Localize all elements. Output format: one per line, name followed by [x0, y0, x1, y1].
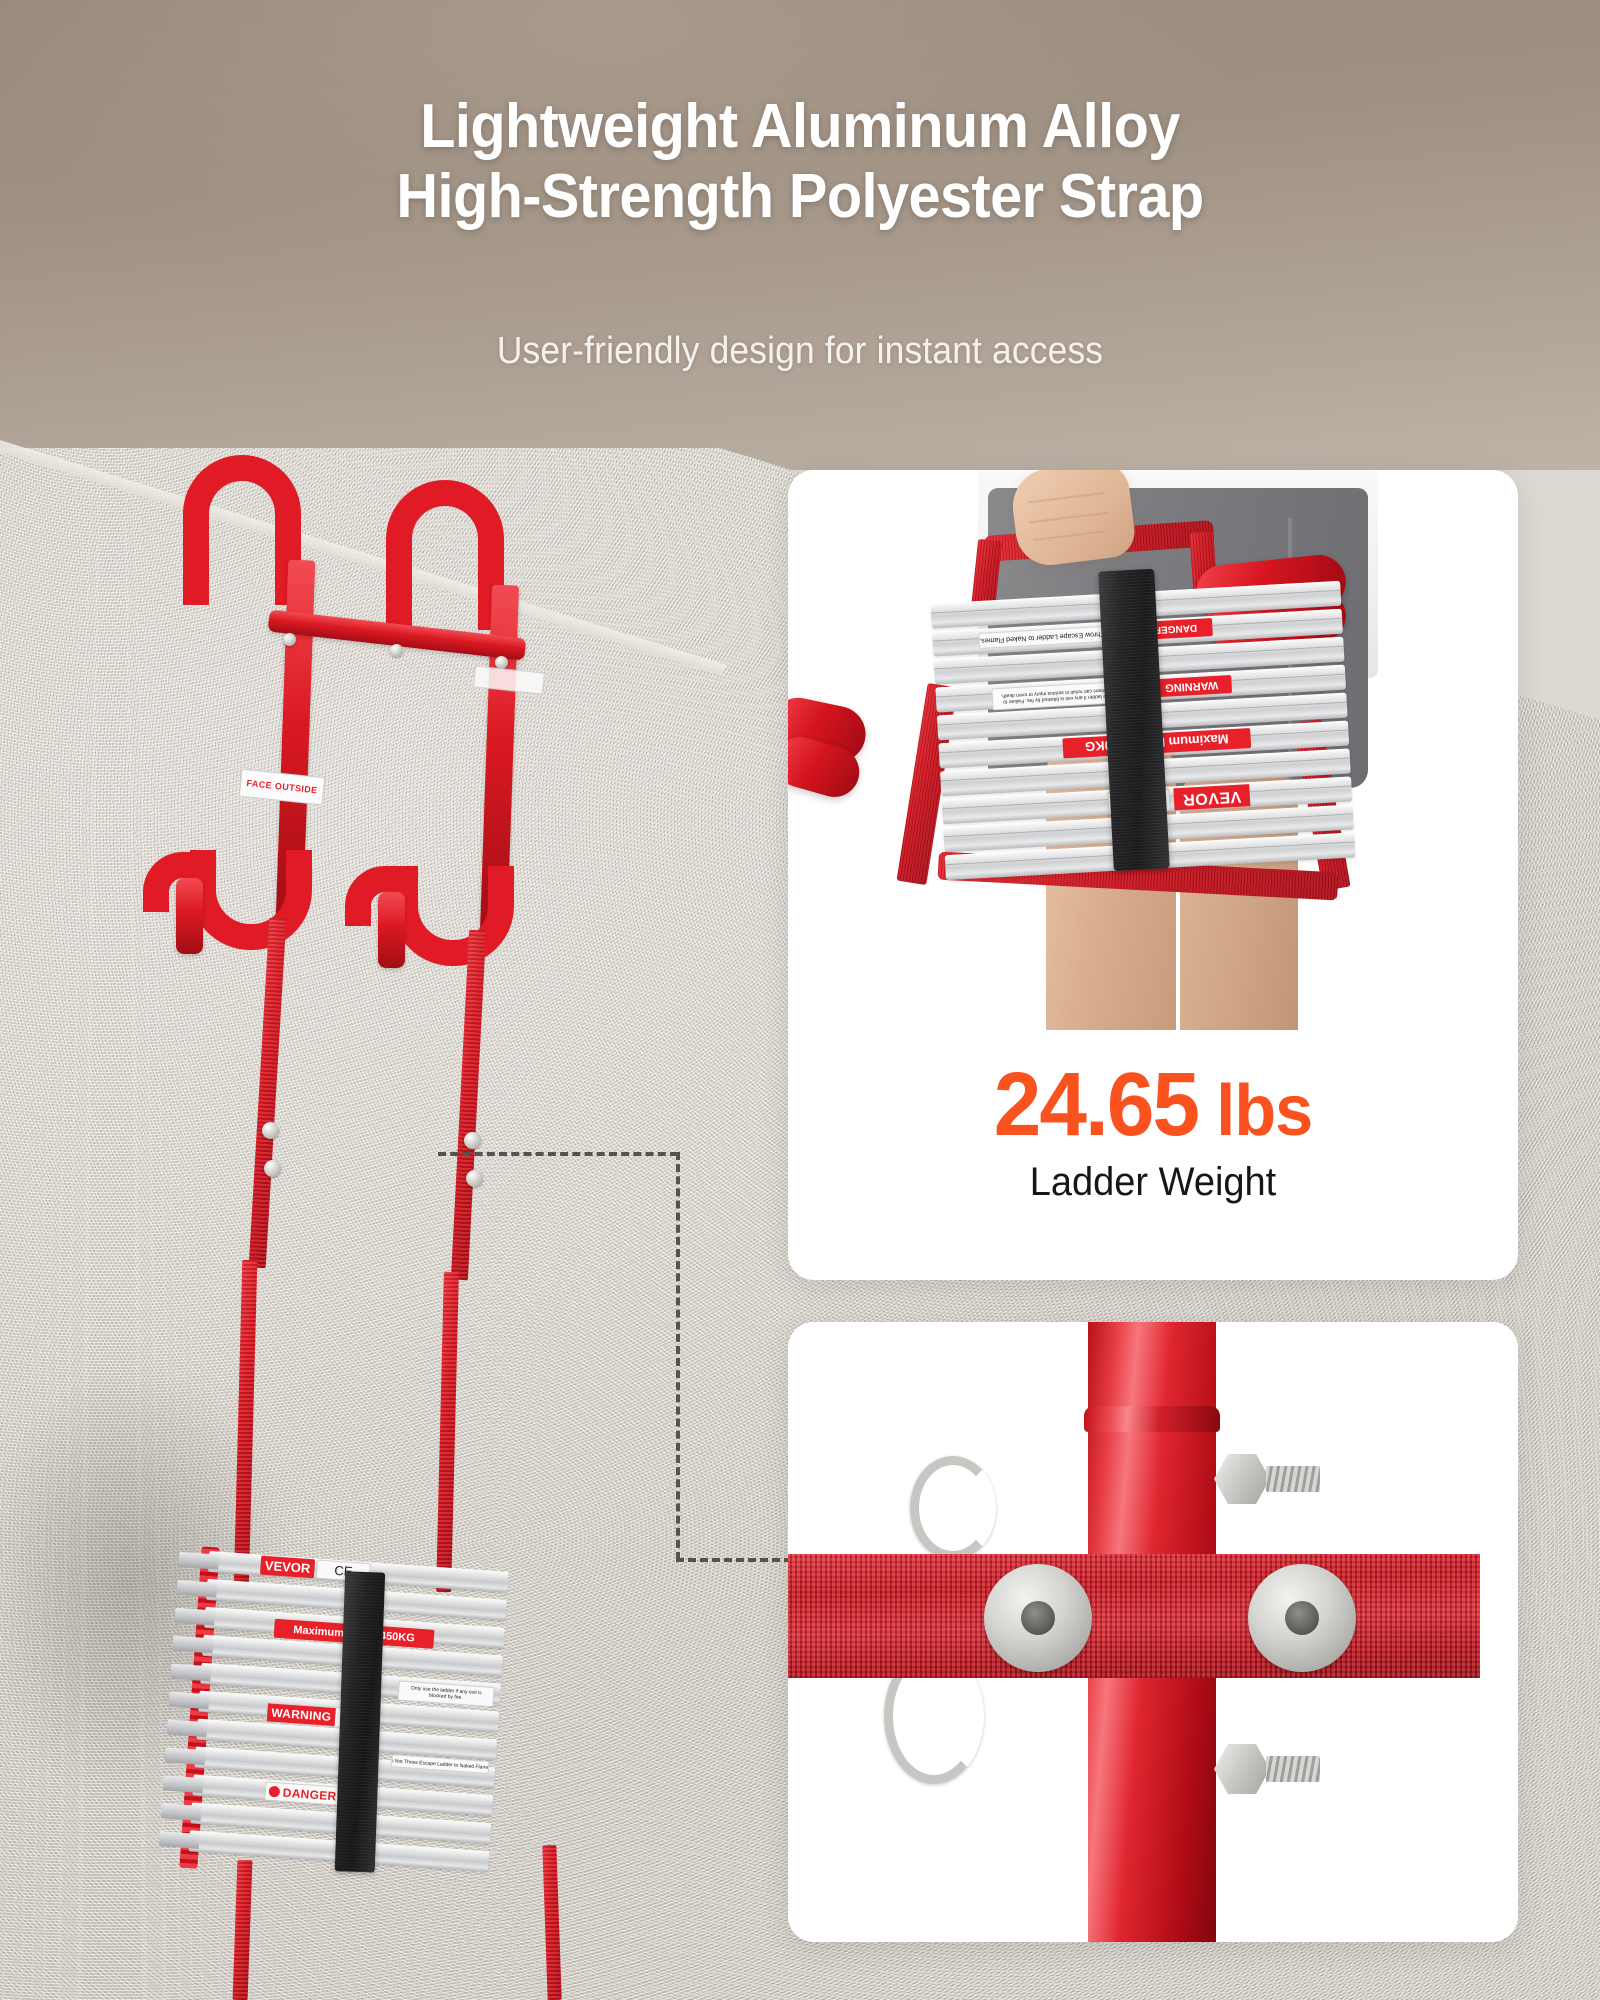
bolt-thread-lower: [1266, 1756, 1320, 1782]
stack-vevor-badge: VEVOR: [1173, 784, 1250, 810]
folded-rung-tip: [165, 1747, 206, 1765]
page-subtitle: User-friendly design for instant access: [56, 330, 1544, 373]
folded-rung-tip: [159, 1831, 200, 1849]
folded-rung-tip: [172, 1636, 213, 1654]
weight-unit: lbs: [1198, 1071, 1312, 1151]
callout-dash-vertical: [676, 1152, 680, 1560]
callout-dash-horizontal: [438, 1152, 678, 1156]
polyester-strap: [788, 1554, 1480, 1678]
folded-rung-tip: [161, 1803, 202, 1821]
strap-rivet-right: [1248, 1564, 1356, 1672]
ladder-hook-right: [386, 480, 504, 630]
strap-left-rivet-1: [262, 1122, 279, 1139]
face-outside-text: FACE OUTSIDE: [246, 778, 318, 795]
folded-rung-tip: [178, 1552, 219, 1570]
headline-line-2: High-Strength Polyester Strap: [56, 162, 1544, 232]
hex-nut-lower: [1214, 1744, 1270, 1794]
weight-value: 24.65 lbs: [806, 1054, 1500, 1157]
folded-rung-tip: [163, 1775, 204, 1793]
bolt-thread-upper: [1266, 1466, 1320, 1492]
folded-rung-tip: [170, 1664, 211, 1682]
callout-dash-horizontal-2: [676, 1558, 792, 1562]
headline-line-1: Lightweight Aluminum Alloy: [420, 92, 1180, 161]
folded-vevor-badge: VEVOR: [260, 1556, 315, 1579]
danger-icon: [268, 1786, 280, 1798]
u-bolt-upper-ring: [910, 1456, 996, 1560]
strap-detail-card: [788, 1322, 1518, 1942]
brace-bolt-mid: [390, 644, 403, 657]
background-top-gradient: [0, 0, 1600, 470]
folded-rung-tip: [176, 1580, 217, 1598]
folded-rung-tip: [169, 1692, 210, 1710]
strap-right-rivet-1: [464, 1132, 481, 1149]
strap-left-rivet-2: [264, 1160, 281, 1177]
strap-right-rivet-2: [466, 1170, 483, 1187]
weight-number: 24.65: [994, 1055, 1198, 1155]
ladder-tube-collar: [1084, 1406, 1220, 1432]
folded-danger-text: DANGER: [282, 1785, 337, 1803]
folded-ladder-pack: VEVOR CE Maximum Load: 450KG Only use th…: [157, 1549, 509, 1891]
model-hand: [1009, 470, 1138, 569]
folded-rung-tip: [174, 1608, 215, 1626]
ladder-hook-left: [183, 455, 301, 605]
page-title: Lightweight Aluminum Alloy High-Strength…: [56, 92, 1544, 232]
weight-caption: Ladder Weight: [806, 1160, 1500, 1205]
brace-bolt-left: [283, 633, 296, 646]
strap-rivet-left: [984, 1564, 1092, 1672]
weight-card: Do Not Throw Escape Ladder to Naked Flam…: [788, 470, 1518, 1280]
hex-nut-upper: [1214, 1454, 1270, 1504]
carry-photo: Do Not Throw Escape Ladder to Naked Flam…: [788, 470, 1518, 1030]
folded-rung-tip: [167, 1719, 208, 1737]
folded-warning-text: WARNING: [267, 1703, 336, 1726]
strap-detail-photo: [788, 1322, 1518, 1942]
